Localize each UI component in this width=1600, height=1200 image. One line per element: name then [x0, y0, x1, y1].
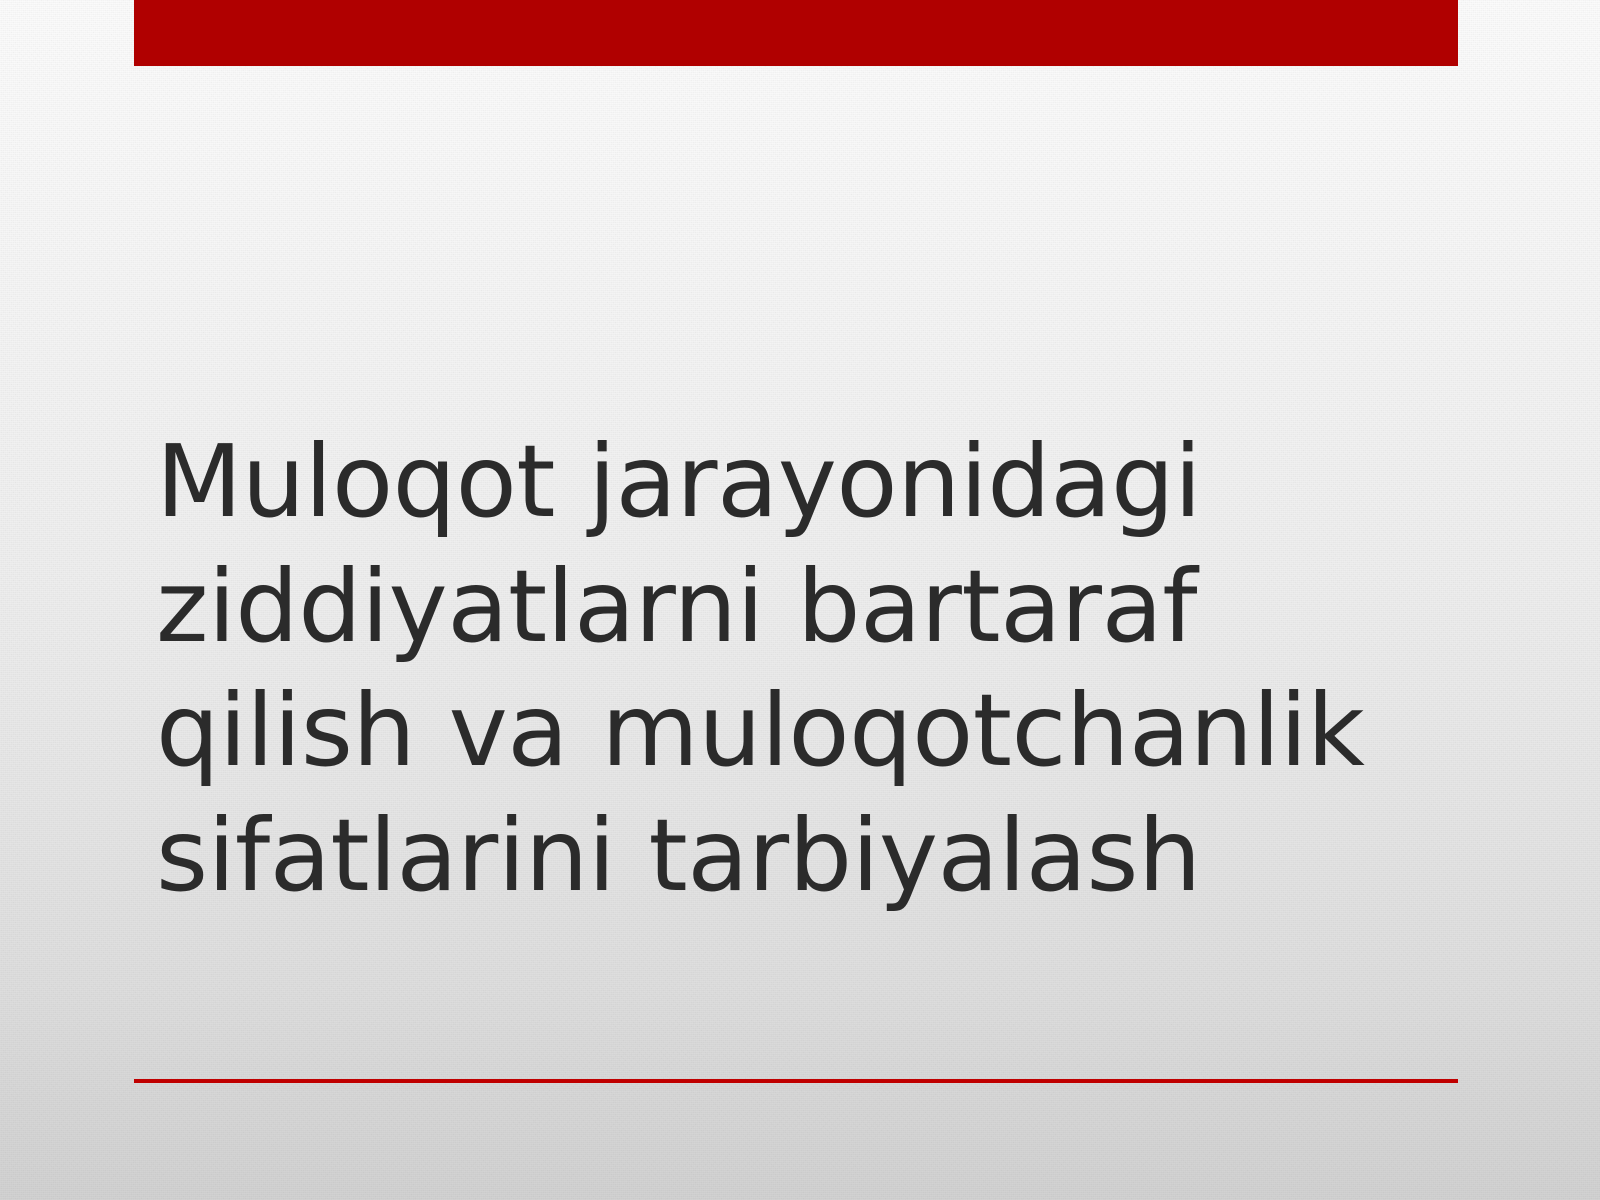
top-accent-banner: [134, 0, 1458, 66]
presentation-slide: Muloqot jarayonidagi ziddiyatlarni barta…: [0, 0, 1600, 1200]
title-block: Muloqot jarayonidagi ziddiyatlarni barta…: [134, 420, 1458, 918]
title-underline-rule: [134, 1079, 1458, 1083]
slide-title: Muloqot jarayonidagi ziddiyatlarni barta…: [134, 420, 1458, 918]
